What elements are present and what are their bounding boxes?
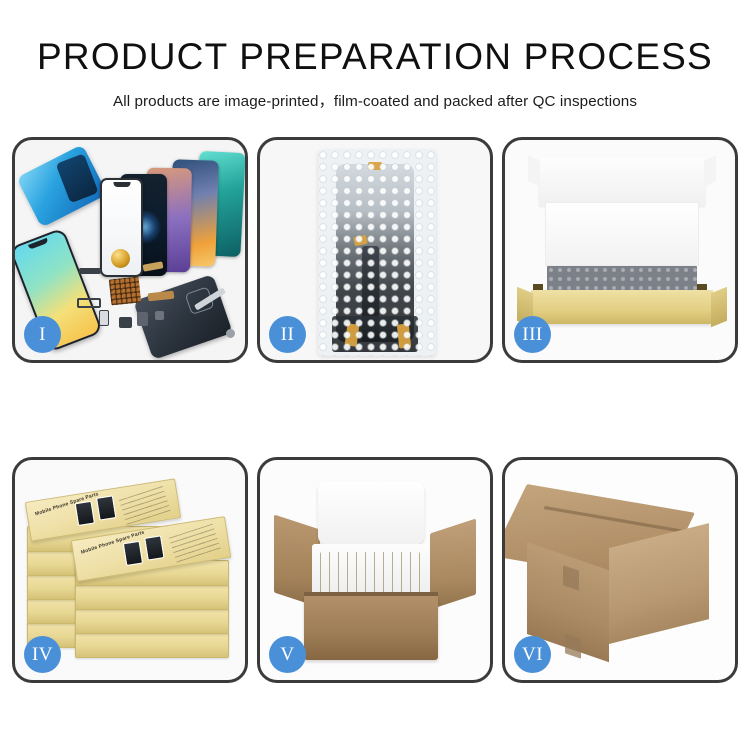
- part-sim-tray-icon: [99, 310, 109, 326]
- step-badge-1: I: [24, 316, 61, 353]
- lid-spec-lines-1: [119, 486, 171, 525]
- header: PRODUCT PREPARATION PROCESS All products…: [0, 0, 750, 111]
- circuit-board-icon: [109, 277, 142, 306]
- page-subtitle: All products are image-printed，film-coat…: [0, 89, 750, 111]
- step-panel-6: VI: [502, 457, 738, 683]
- lid-phone-icon-d: [144, 535, 164, 560]
- product-preparation-infographic: PRODUCT PREPARATION PROCESS All products…: [0, 0, 750, 750]
- step-panel-2: II: [257, 137, 493, 363]
- lid-spec-lines-2: [169, 524, 221, 563]
- step-panel-1: I: [12, 137, 248, 363]
- step-panel-3: III: [502, 137, 738, 363]
- page-title: PRODUCT PREPARATION PROCESS: [0, 36, 750, 78]
- part-button-icon: [226, 329, 235, 338]
- lid-phone-icon-a: [75, 501, 95, 526]
- part-bracket-icon: [77, 298, 101, 308]
- yellow-box-front-icon: [531, 290, 713, 324]
- box-slab-r5: [75, 632, 229, 658]
- step-badge-2: II: [269, 316, 306, 353]
- part-connector-icon: [79, 268, 101, 274]
- gray-foam-icon: [547, 266, 697, 292]
- gold-coil-icon: [111, 249, 130, 268]
- step-badge-3: III: [514, 316, 551, 353]
- bubble-texture: [318, 150, 436, 356]
- styrofoam-lid-icon: [318, 482, 424, 544]
- part-screw-icon: [155, 311, 164, 320]
- bubble-wrap-bag-icon: [318, 150, 436, 356]
- lid-phone-icon-c: [123, 541, 143, 566]
- carton-tape-lower-icon: [565, 633, 581, 659]
- step-badge-5: V: [269, 636, 306, 673]
- yellow-boxes-inside-icon: [320, 552, 420, 594]
- carton-front-icon: [304, 596, 438, 660]
- step-panel-4: Mobile Phone Spare Parts Mobile Phone Sp…: [12, 457, 248, 683]
- open-lid-icon: [539, 158, 705, 206]
- lid-phone-icon-b: [96, 495, 116, 520]
- step-badge-4: IV: [24, 636, 61, 673]
- part-camera-icon: [137, 312, 148, 326]
- box-slab-r3: [75, 584, 229, 610]
- part-speaker-icon: [119, 317, 132, 328]
- step-badge-6: VI: [514, 636, 551, 673]
- box-slab-r4: [75, 608, 229, 634]
- phone-backplate-icon: [133, 274, 233, 360]
- step-panel-5: V: [257, 457, 493, 683]
- process-steps-grid: I II: [12, 137, 738, 683]
- box-stack-icon: Mobile Phone Spare Parts Mobile Phone Sp…: [23, 472, 237, 668]
- white-foam-icon: [545, 202, 699, 266]
